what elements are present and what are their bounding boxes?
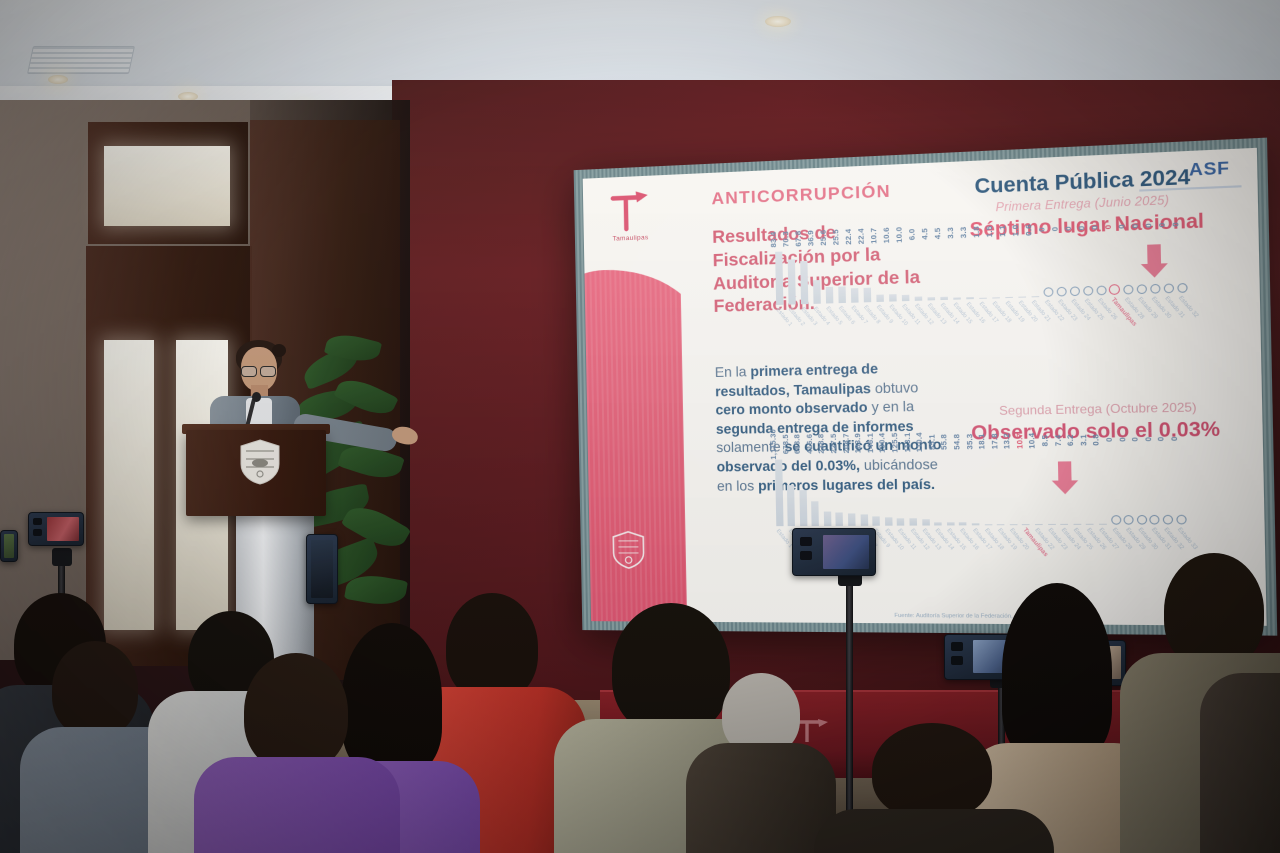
chart-bar-value-label: 0 <box>1156 437 1166 442</box>
chart-zero-marker <box>1163 515 1173 525</box>
chart-bar-column: 3.3Estado 16 <box>964 234 974 299</box>
person-head <box>244 653 348 771</box>
chart-bar-value-label: 54.8 <box>952 434 962 450</box>
chart-bar-column: 1.0Estado 20 <box>1016 232 1026 298</box>
chart1-bars: 83.4Estado 170.3Estado 267.8Estado 336.9… <box>774 226 1191 305</box>
chart-bar-column: 0Estado 24 <box>1069 230 1079 296</box>
chart-bar-column: 0.6Estado 21 <box>1029 232 1039 298</box>
chart-bar-column: 6.0Estado 12 <box>912 236 922 301</box>
chart-zero-marker <box>1150 515 1160 525</box>
chart-bar <box>992 297 1000 299</box>
frosted-window-door-left <box>104 340 154 630</box>
chart-bar-value-label: 1.8 <box>971 226 981 238</box>
chart-bar <box>824 512 832 526</box>
chart-bar-value-label: 7.4 <box>1053 435 1063 447</box>
microphone-head <box>252 392 261 402</box>
chart-bar-value-label: 0 <box>1143 223 1153 228</box>
phone-handheld-crowd[interactable] <box>306 534 338 604</box>
chart-bar <box>997 524 1005 526</box>
chart-bar-column: 0Estado 28 <box>1122 228 1132 294</box>
chart-zero-marker <box>1123 285 1133 295</box>
chart-bar <box>889 295 897 302</box>
phone-screen <box>47 517 79 541</box>
chart-bar-value-label: 0 <box>1050 226 1060 231</box>
chart-bar-value-label: 3.3 <box>945 227 955 239</box>
chart-zero-marker <box>1176 515 1186 525</box>
chart-bar <box>1099 523 1107 525</box>
chart-zero-marker <box>1124 515 1134 525</box>
chart-bar-value-label: 0.8 <box>1091 434 1101 446</box>
chart-bar-column: 0Estado 31 <box>1163 227 1173 294</box>
chart-bar-column: 0Estado 29 <box>1123 441 1134 524</box>
chart-bar-value-label: 55.1 <box>927 434 937 450</box>
chart-bar-column: 10.4Estado 22 <box>1033 443 1043 525</box>
chart-bar-value-label: 0 <box>1063 226 1073 231</box>
chart-bar <box>984 524 992 526</box>
chart2-subtitle: Segunda Entrega (Octubre 2025) <box>944 399 1256 419</box>
chart-bar-value-label: 36.9 <box>806 230 816 246</box>
phone-tripod-left-1[interactable] <box>28 512 84 546</box>
phone-lens-icon <box>800 537 812 546</box>
chart-bar-value-label: 1.5 <box>984 225 994 237</box>
chart-bar-column: 10.7Tamaulipas <box>1020 443 1030 525</box>
chart-bar <box>959 522 967 525</box>
chart-bar-column: 146.1Estado 9 <box>871 445 881 526</box>
chart-bar-column: 1.8Estado 17 <box>977 234 987 299</box>
chart-bar-column: 22.4Estado 7 <box>849 238 859 302</box>
chart-bar-column: 7.4Estado 24 <box>1058 442 1068 525</box>
chart-bar-value-label: 146.1 <box>865 433 875 453</box>
audience-person <box>1200 653 1280 853</box>
chart-bar-column: 10.6Estado 10 <box>887 237 897 302</box>
chart-bar-value-label: 678.5 <box>780 434 790 454</box>
chart-bar-value-label: 603.8 <box>792 434 802 454</box>
chart-bar <box>799 490 807 526</box>
chart-bar-column: 83.4Estado 1 <box>774 241 784 305</box>
chart-bar-value-label: 6.2 <box>1065 434 1075 446</box>
brand-label: Tamaulipas <box>596 234 666 244</box>
chart-bar <box>901 295 909 302</box>
downlight-icon <box>765 16 791 27</box>
chart-zero-marker <box>1056 287 1066 297</box>
chart-bar-column: 55.1Estado 14 <box>932 444 942 525</box>
chart-bar-column: 416.6Estado 4 <box>810 446 820 526</box>
chart-bar-value-label: 1,115.30 <box>768 429 778 460</box>
speaker-glasses-icon <box>241 366 276 375</box>
slide-left-panel: Tamaulipas <box>583 174 687 621</box>
chart-bar-column: 18.1Estado 18 <box>982 443 992 525</box>
chart-bar-column: 0Estado 28 <box>1110 442 1121 525</box>
chart-bar-value-label: 125.5 <box>890 432 900 452</box>
phone-lens-icon <box>800 551 812 560</box>
chart-bar-column: 113.1Estado 12 <box>907 444 917 525</box>
chart-bar-column: 1.5Estado 18 <box>990 233 1000 298</box>
chart-bar-value-label: 67.8 <box>793 230 803 246</box>
chart2-bars: 1,115.30Estado 1678.5Estado 2603.8Estado… <box>774 441 1190 526</box>
person-body <box>194 757 400 853</box>
chart-bar-column: 10.7Estado 9 <box>874 238 884 302</box>
chart-bar-value-label: 183.9 <box>853 433 863 453</box>
chart-bar-value-label: 10.6 <box>881 227 891 244</box>
chart-bar-column: 10.0Estado 11 <box>900 237 910 302</box>
chart-bar <box>1060 523 1068 525</box>
chart-bar-column: 17.8Estado 19 <box>995 443 1005 525</box>
chart-bar-value-label: 4.5 <box>933 227 943 239</box>
chart-zero-marker <box>1150 284 1160 294</box>
frosted-window-upper <box>104 146 230 226</box>
chart-bar <box>1086 523 1094 525</box>
chart-bar-column: 0Estado 33 <box>1175 441 1186 525</box>
person-head <box>1164 553 1264 669</box>
chart-bar-value-label: 70.3 <box>781 231 791 247</box>
chart-bar <box>813 280 821 304</box>
tripod-clamp <box>52 548 72 566</box>
chart-bar-column: 110.4Estado 13 <box>920 444 930 525</box>
person-body <box>814 809 1054 853</box>
chart-bar-column: 0Estado 32 <box>1176 226 1186 293</box>
chart-bar-column: 0Estado 30 <box>1149 227 1159 294</box>
chart-bar-value-label: 0 <box>1170 222 1180 227</box>
chart-bar-value-label: 0.6 <box>1024 224 1034 236</box>
chart-bar-column: 8.5Estado 23 <box>1046 443 1056 525</box>
chart-bar <box>775 252 783 305</box>
chart-bar-column: 238.8Estado 5 <box>822 446 832 526</box>
chart-bar <box>876 295 884 302</box>
chart-bar-value-label: 6.0 <box>907 228 917 240</box>
chart-bar <box>1018 296 1026 298</box>
paragraph-fragment: obtuvo <box>871 379 919 396</box>
chart-bar-value-label: 22.4 <box>843 229 853 245</box>
chart-bar-column: 0Tamaulipas <box>1109 229 1119 295</box>
chart-zero-marker <box>1177 283 1187 293</box>
chart-bar <box>860 515 868 526</box>
chart-bar-value-label: 0 <box>1104 437 1114 442</box>
chart-bar-column: 54.8Estado 16 <box>957 444 967 526</box>
chart-bar <box>1010 524 1018 526</box>
chart-primera-entrega: 83.4Estado 170.3Estado 267.8Estado 336.9… <box>774 224 1232 305</box>
chart-bar <box>947 522 955 525</box>
chart-bar-column: 3.3Estado 15 <box>951 235 961 300</box>
chart-bar-value-label: 10.0 <box>894 227 904 244</box>
state-coat-of-arms-icon <box>238 438 282 486</box>
chart-bar-column: 13.2Estado 20 <box>1007 443 1017 525</box>
person-head <box>872 723 992 819</box>
chart-bar <box>1031 296 1039 298</box>
chart-bar <box>909 519 917 526</box>
chart-bar-column: 0Estado 32 <box>1162 441 1173 525</box>
chart-bar <box>940 297 948 300</box>
paragraph-fragment: y en la <box>867 399 914 415</box>
chart-bar <box>953 297 961 299</box>
chart-bar-value-label: 113.1 <box>902 432 912 452</box>
chart-bar <box>838 287 846 304</box>
chart-bar <box>1005 296 1013 298</box>
chart-bar-column: 130.4Estado 10 <box>883 445 893 526</box>
chart-bar-value-label: 0 <box>1076 225 1086 230</box>
person-body <box>1200 673 1280 853</box>
phone-screen <box>4 534 14 558</box>
chart-bar-value-label: 110.4 <box>914 432 924 452</box>
chart-bar-column: 36.9Estado 4 <box>811 240 821 304</box>
chart-bar-value-label: 18.1 <box>977 433 987 449</box>
chart-bar-column: 0Estado 23 <box>1056 231 1066 297</box>
phone-screen <box>823 535 869 569</box>
chart-bar-column: 22.4Estado 8 <box>862 238 872 302</box>
chart-bar <box>934 522 942 525</box>
chart-bar-column: 0Estado 29 <box>1136 228 1146 294</box>
chart-zero-marker <box>1096 286 1106 296</box>
chart-bar-value-label: 10.7 <box>1014 433 1024 449</box>
chart-bar-column: 0Estado 31 <box>1149 441 1160 524</box>
chart-zero-marker <box>1163 283 1173 293</box>
chart-bar-value-label: 0 <box>1130 223 1140 228</box>
phone-tripod-center[interactable] <box>792 528 876 576</box>
chart-bar <box>873 517 881 526</box>
chart-bar-column: 35.3Estado 17 <box>970 444 980 526</box>
chart-bar-column: 1,115.30Estado 1 <box>774 446 784 526</box>
chart-bar-value-label: 0 <box>1117 437 1127 442</box>
speaker-hair-bun <box>272 344 286 357</box>
chart-bar-value-label: 208.7 <box>841 433 851 453</box>
audience-person <box>800 723 1060 853</box>
chart-zero-marker <box>1043 287 1053 297</box>
chart-bar-value-label: 0 <box>1130 437 1140 442</box>
chart-bar-value-label: 25.6 <box>818 230 828 246</box>
chart-bar-value-label: 83.4 <box>769 231 779 247</box>
paragraph-fragment: en los <box>717 478 758 494</box>
chart-bar-column: 208.7Estado 7 <box>846 445 856 526</box>
chart-bar-column: 0.8Estado 27 <box>1097 442 1108 525</box>
chart-bar-value-label: 25.5 <box>831 229 841 245</box>
chart-bar <box>1035 523 1043 525</box>
chart-bar-value-label: 0 <box>1103 224 1113 229</box>
chart-bar <box>811 501 819 526</box>
chart-bar-column: 227.5Estado 6 <box>834 445 844 526</box>
phone-screen <box>311 540 333 598</box>
presentation-room-photo: Tamaulipas ASF ANTICORRUPCIÓN Resultados… <box>0 0 1280 853</box>
chart-bar-column: 1.1Estado 19 <box>1003 233 1013 298</box>
air-vent-icon <box>27 46 135 74</box>
chart-bar <box>885 518 893 526</box>
chart-bar-value-label: 55.8 <box>939 434 949 450</box>
chart-bar-column: 6.2Estado 25 <box>1071 442 1082 525</box>
chart-bar-value-label: 17.8 <box>989 433 999 449</box>
chart-bar-value-label: 238.8 <box>816 434 826 454</box>
chart-bar <box>972 523 980 525</box>
chart-bar-column: 603.8Estado 3 <box>798 446 808 526</box>
chart-bar-value-label: 13.2 <box>1002 433 1012 449</box>
chart-bar-value-label: 0 <box>1116 224 1126 229</box>
chart-bar-column: 25.6Estado 5 <box>824 239 834 303</box>
phone-lens-icon <box>33 529 42 536</box>
slide-kicker: ANTICORRUPCIÓN <box>711 181 891 209</box>
chart-bar-column: 183.9Estado 8 <box>858 445 868 526</box>
chart-bar-value-label: 10.7 <box>869 228 879 244</box>
chart-bar-value-label: 22.4 <box>856 228 866 244</box>
chart-bar <box>863 288 871 303</box>
chart-bar <box>922 519 930 526</box>
chart-bar <box>848 513 856 526</box>
chart-bar-value-label: 0 <box>1169 436 1179 441</box>
chart-bar <box>787 485 795 526</box>
chart-zero-marker <box>1109 284 1120 295</box>
chart-bar-value-label: 1.1 <box>997 225 1007 237</box>
chart-bar <box>927 297 935 300</box>
chart-bar-column: 4.5Estado 13 <box>925 236 935 301</box>
chart-zero-marker <box>1136 284 1146 294</box>
chart-bar-column: 0Estado 22 <box>1042 231 1052 297</box>
chart-bar <box>1048 523 1056 525</box>
chart-bar-column: 25.5Estado 6 <box>836 239 846 303</box>
chart-bar-value-label: 8.5 <box>1040 435 1050 447</box>
chart-bar-value-label: 4.5 <box>920 228 930 240</box>
phone-lens-icon <box>33 518 42 525</box>
chart-bar <box>825 287 833 304</box>
chart-bar-column: 4.5Estado 14 <box>938 235 948 300</box>
chart-bar-value-label: 1.0 <box>1010 224 1020 236</box>
chart-bar-value-label: 0 <box>1157 222 1167 227</box>
chart-bar-column: 0Estado 25 <box>1082 230 1092 296</box>
downlight-icon <box>48 75 68 84</box>
chart-bar <box>800 261 808 305</box>
audience-person <box>190 653 400 853</box>
chart-zero-marker <box>1137 515 1147 525</box>
chart-bar <box>897 518 905 526</box>
chart-bar-column: 70.3Estado 2 <box>786 241 796 305</box>
chart-bar-column: 125.5Estado 11 <box>895 445 905 526</box>
chart-zero-marker <box>1069 286 1079 296</box>
paragraph-fragment: cero monto observado <box>715 400 867 418</box>
chart-bar <box>1022 524 1030 526</box>
chart-bar <box>979 297 987 299</box>
chart-bar-value-label: 3.3 <box>958 226 968 238</box>
tamaulipas-t-logo-icon <box>605 188 652 238</box>
chart-bar-column: 678.5Estado 2 <box>786 446 796 526</box>
paragraph-fragment: En la <box>715 364 751 380</box>
chart-bar-value-label: 10.4 <box>1027 433 1037 449</box>
chart-bar-column: 0Estado 26 <box>1095 229 1105 295</box>
chart-bar <box>787 260 795 305</box>
chart-bar-value-label: 416.6 <box>804 434 814 454</box>
chart-zero-marker <box>1111 515 1121 525</box>
chart-bar-value-label: 0 <box>1037 227 1047 232</box>
person-head <box>52 641 138 737</box>
phone-tripod-left-2[interactable] <box>0 530 18 562</box>
chart-bar-column: 0Estado 30 <box>1136 441 1147 524</box>
chart-bar <box>850 288 858 303</box>
chart-bar <box>836 512 844 526</box>
tamaulipas-seal-icon <box>611 531 646 569</box>
chart-bar-column: 3.1Estado 26 <box>1084 442 1095 525</box>
chart-bar-value-label: 35.3 <box>964 434 974 450</box>
chart-bar-value-label: 0 <box>1090 225 1100 230</box>
chart-zero-marker <box>1083 286 1093 296</box>
chart-bar-column: 67.8Estado 3 <box>799 240 809 304</box>
chart-bar-value-label: 227.5 <box>829 433 839 453</box>
chart-bar <box>966 297 974 299</box>
chart-bar <box>914 297 922 301</box>
chart-bar-value-label: 130.4 <box>877 433 887 453</box>
chart-segunda-entrega: 1,115.30Estado 1678.5Estado 2603.8Estado… <box>774 440 1244 526</box>
chart-bar-value-label: 0 <box>1143 437 1153 442</box>
chart-bar <box>1073 523 1081 525</box>
chart-bar-value-label: 3.1 <box>1078 434 1088 446</box>
chart-bar <box>774 460 783 527</box>
chart-bar-column: 55.8Estado 15 <box>945 444 955 526</box>
